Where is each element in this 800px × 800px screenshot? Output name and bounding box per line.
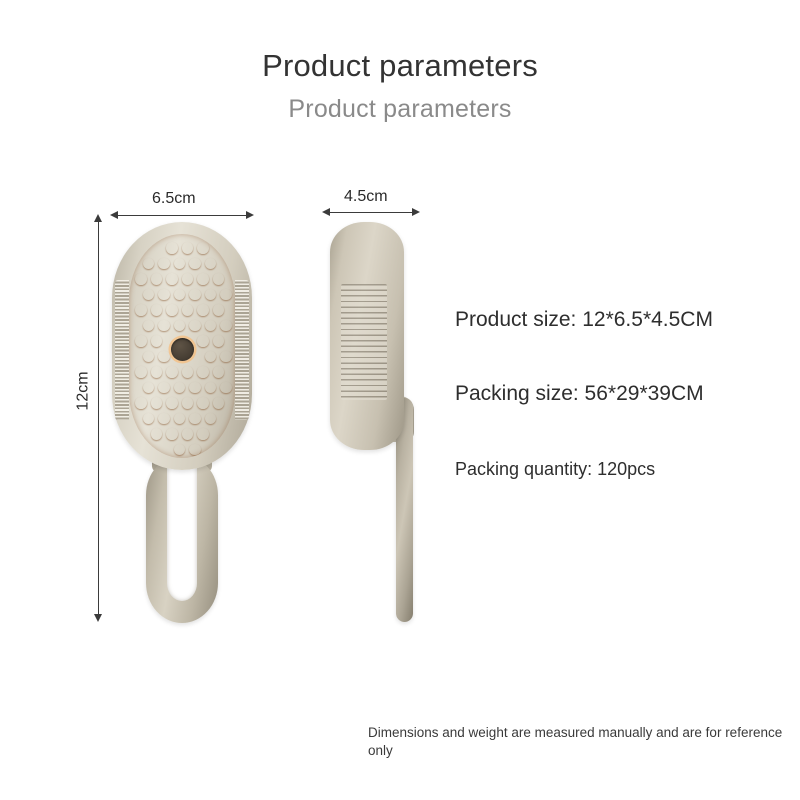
silicone-nub: [158, 413, 170, 425]
silicone-nub: [182, 428, 194, 440]
silicone-nub: [197, 273, 209, 285]
silicone-nub: [197, 335, 209, 347]
silicone-nub: [166, 428, 178, 440]
silicone-nub: [158, 382, 170, 394]
silicone-nub: [174, 382, 186, 394]
silicone-nub: [213, 273, 225, 285]
page-title: Product parameters: [0, 48, 800, 84]
product-parameters-image: Product parameters Product parameters 6.…: [0, 0, 800, 800]
silicone-nub: [220, 351, 232, 363]
spec-packing-quantity: Packing quantity: 120pcs: [455, 459, 655, 480]
silicone-nub: [213, 335, 225, 347]
silicone-nub: [197, 366, 209, 378]
silicone-nub: [151, 397, 163, 409]
silicone-nub: [174, 413, 186, 425]
arrow-head-top-front-height: [94, 214, 102, 222]
silicone-nub: [182, 397, 194, 409]
silicone-nub: [151, 366, 163, 378]
silicone-nub: [143, 382, 155, 394]
silicone-nub: [197, 304, 209, 316]
silicone-nub: [205, 351, 217, 363]
silicone-nub: [135, 273, 147, 285]
silicone-nub: [182, 242, 194, 254]
silicone-nub: [135, 366, 147, 378]
product-front-view: [112, 222, 252, 470]
silicone-nub: [143, 351, 155, 363]
silicone-nub: [205, 382, 217, 394]
arrow-head-right-front-width: [246, 211, 254, 219]
dimension-line-side-width: [330, 212, 412, 213]
comb-teeth-right: [235, 280, 249, 420]
dimension-label-front-height: 12cm: [75, 371, 93, 410]
silicone-nub: [205, 258, 217, 270]
dimension-label-side-width: 4.5cm: [344, 188, 388, 206]
silicone-nub: [166, 273, 178, 285]
spec-product-size: Product size: 12*6.5*4.5CM: [455, 308, 713, 332]
silicone-nub: [143, 413, 155, 425]
arrow-head-left-side-width: [322, 208, 330, 216]
bristle: [311, 228, 336, 235]
silicone-nub: [166, 242, 178, 254]
silicone-nub: [158, 320, 170, 332]
silicone-nub: [174, 320, 186, 332]
silicone-nub: [135, 304, 147, 316]
silicone-nub: [151, 304, 163, 316]
silicone-nub: [189, 289, 201, 301]
silicone-nub: [143, 289, 155, 301]
silicone-nub: [189, 413, 201, 425]
silicone-nub: [151, 273, 163, 285]
silicone-nub: [174, 444, 186, 456]
page-subtitle: Product parameters: [0, 95, 800, 124]
silicone-nub: [220, 382, 232, 394]
bristle: [309, 435, 336, 442]
silicone-nub: [151, 428, 163, 440]
silicone-nub: [189, 320, 201, 332]
silicone-nub: [220, 289, 232, 301]
silicone-nub: [166, 304, 178, 316]
silicone-nub: [158, 351, 170, 363]
grip-ridges-side: [341, 284, 387, 400]
silicone-nub: [182, 304, 194, 316]
silicone-nub: [182, 366, 194, 378]
silicone-nub: [213, 397, 225, 409]
silicone-nub: [158, 258, 170, 270]
silicone-nub: [197, 428, 209, 440]
arrow-head-bottom-front-height: [94, 614, 102, 622]
silicone-nub: [182, 273, 194, 285]
silicone-nub: [135, 397, 147, 409]
silicone-nub: [189, 258, 201, 270]
dimension-line-front-height: [98, 222, 99, 614]
silicone-nub: [205, 413, 217, 425]
silicone-nub: [197, 242, 209, 254]
spec-packing-size: Packing size: 56*29*39CM: [455, 382, 704, 406]
silicone-nub: [166, 397, 178, 409]
silicone-nub: [158, 289, 170, 301]
silicone-nub: [151, 335, 163, 347]
silicone-nub: [174, 258, 186, 270]
dimension-line-front-width: [118, 215, 246, 216]
silicone-nub: [205, 320, 217, 332]
silicone-nub: [205, 289, 217, 301]
product-handle-loop-front: [146, 455, 218, 623]
disclaimer-note: Dimensions and weight are measured manua…: [368, 724, 788, 760]
silicone-nub: [197, 397, 209, 409]
handle-loop-opening: [167, 449, 197, 601]
brush-body-side: [330, 222, 404, 450]
silicone-nub: [135, 335, 147, 347]
silicone-nub: [213, 366, 225, 378]
silicone-nub: [174, 289, 186, 301]
arrow-head-right-side-width: [412, 208, 420, 216]
arrow-head-left-front-width: [110, 211, 118, 219]
product-side-view: [300, 222, 416, 450]
silicone-nub: [143, 258, 155, 270]
silicone-nub: [143, 320, 155, 332]
steam-nozzle-hole: [171, 338, 194, 361]
comb-teeth-left: [115, 280, 129, 420]
silicone-nub: [189, 444, 201, 456]
dimension-label-front-width: 6.5cm: [152, 190, 196, 208]
silicone-nub: [220, 320, 232, 332]
silicone-nub: [166, 366, 178, 378]
silicone-nub: [213, 304, 225, 316]
silicone-nub: [189, 382, 201, 394]
